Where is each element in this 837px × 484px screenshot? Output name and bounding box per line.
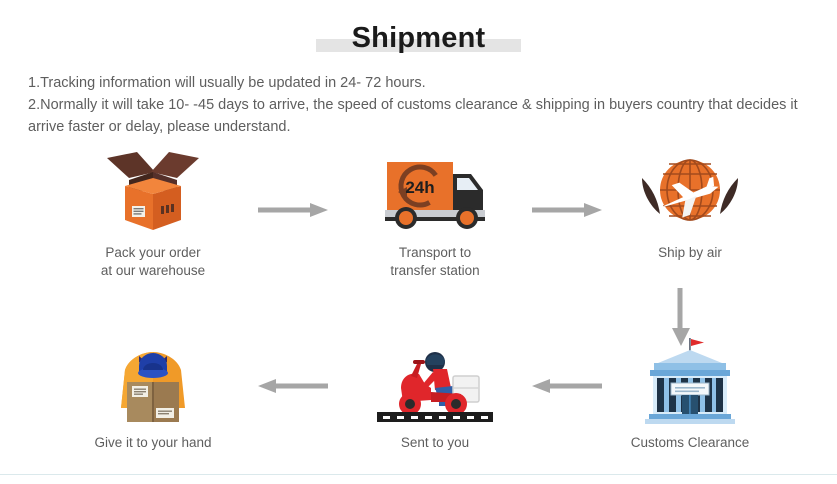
- notice-line-1: 1.Tracking information will usually be u…: [28, 72, 818, 94]
- courier-with-package-icon: [93, 338, 213, 424]
- step-customs-clearance: Customs Clearance: [595, 338, 785, 452]
- steps-flow: Pack your order at our warehouse: [0, 148, 837, 478]
- title-highlight-bar: Shipment: [316, 22, 522, 55]
- title-text: Shipment: [352, 22, 486, 54]
- arrow-scooter-to-hand: [258, 376, 328, 396]
- delivery-scooter-icon: [375, 338, 495, 424]
- step-pack-order: Pack your order at our warehouse: [58, 148, 248, 280]
- step-caption-line-1: Sent to you: [340, 434, 530, 452]
- step-transport: 24h Transport to transfer station: [340, 148, 530, 280]
- step-caption: Ship by air: [595, 244, 785, 262]
- arrow-pack-to-transport: [258, 200, 328, 220]
- notice-line-2: 2.Normally it will take 10- -45 days to …: [28, 94, 818, 138]
- government-building-icon: [630, 338, 750, 424]
- step-caption-line-1: Ship by air: [595, 244, 785, 262]
- step-caption: Give it to your hand: [58, 434, 248, 452]
- step-sent-to-you: Sent to you: [340, 338, 530, 452]
- shipping-notice: 1.Tracking information will usually be u…: [28, 72, 818, 138]
- arrow-customs-to-scooter: [532, 376, 602, 396]
- step-caption: Transport to transfer station: [340, 244, 530, 280]
- shipment-infographic: Shipment 1.Tracking information will usu…: [0, 0, 837, 484]
- step-caption: Customs Clearance: [595, 434, 785, 452]
- step-caption: Pack your order at our warehouse: [58, 244, 248, 280]
- step-caption-line-1: Pack your order: [58, 244, 248, 262]
- delivery-truck-icon: 24h: [375, 148, 495, 234]
- step-caption: Sent to you: [340, 434, 530, 452]
- step-caption-line-2: at our warehouse: [58, 262, 248, 280]
- truck-24h-badge: 24h: [405, 178, 434, 197]
- step-caption-line-1: Customs Clearance: [595, 434, 785, 452]
- step-give-to-hand: Give it to your hand: [58, 338, 248, 452]
- open-cardboard-box-icon: [93, 148, 213, 234]
- step-caption-line-1: Give it to your hand: [58, 434, 248, 452]
- step-caption-line-1: Transport to: [340, 244, 530, 262]
- step-caption-line-2: transfer station: [340, 262, 530, 280]
- step-ship-by-air: Ship by air: [595, 148, 785, 262]
- arrow-transport-to-air: [532, 200, 602, 220]
- bottom-divider: [0, 474, 837, 475]
- page-title: Shipment: [0, 22, 837, 55]
- globe-airplane-icon: [630, 148, 750, 234]
